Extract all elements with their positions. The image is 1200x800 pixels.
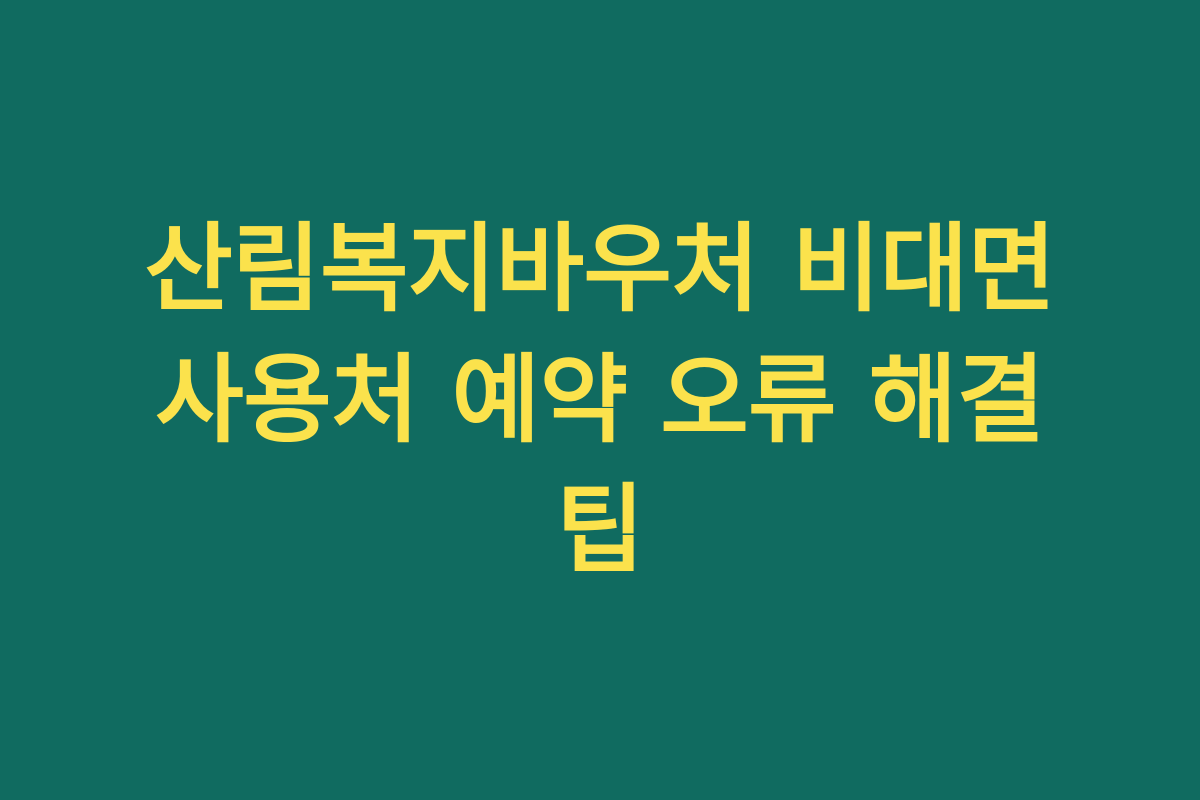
headline-block: 산림복지바우처 비대면 사용처 예약 오류 해결 팁 [110,204,1090,596]
title-card: 산림복지바우처 비대면 사용처 예약 오류 해결 팁 [0,0,1200,800]
page-title: 산림복지바우처 비대면 사용처 예약 오류 해결 팁 [110,204,1090,596]
